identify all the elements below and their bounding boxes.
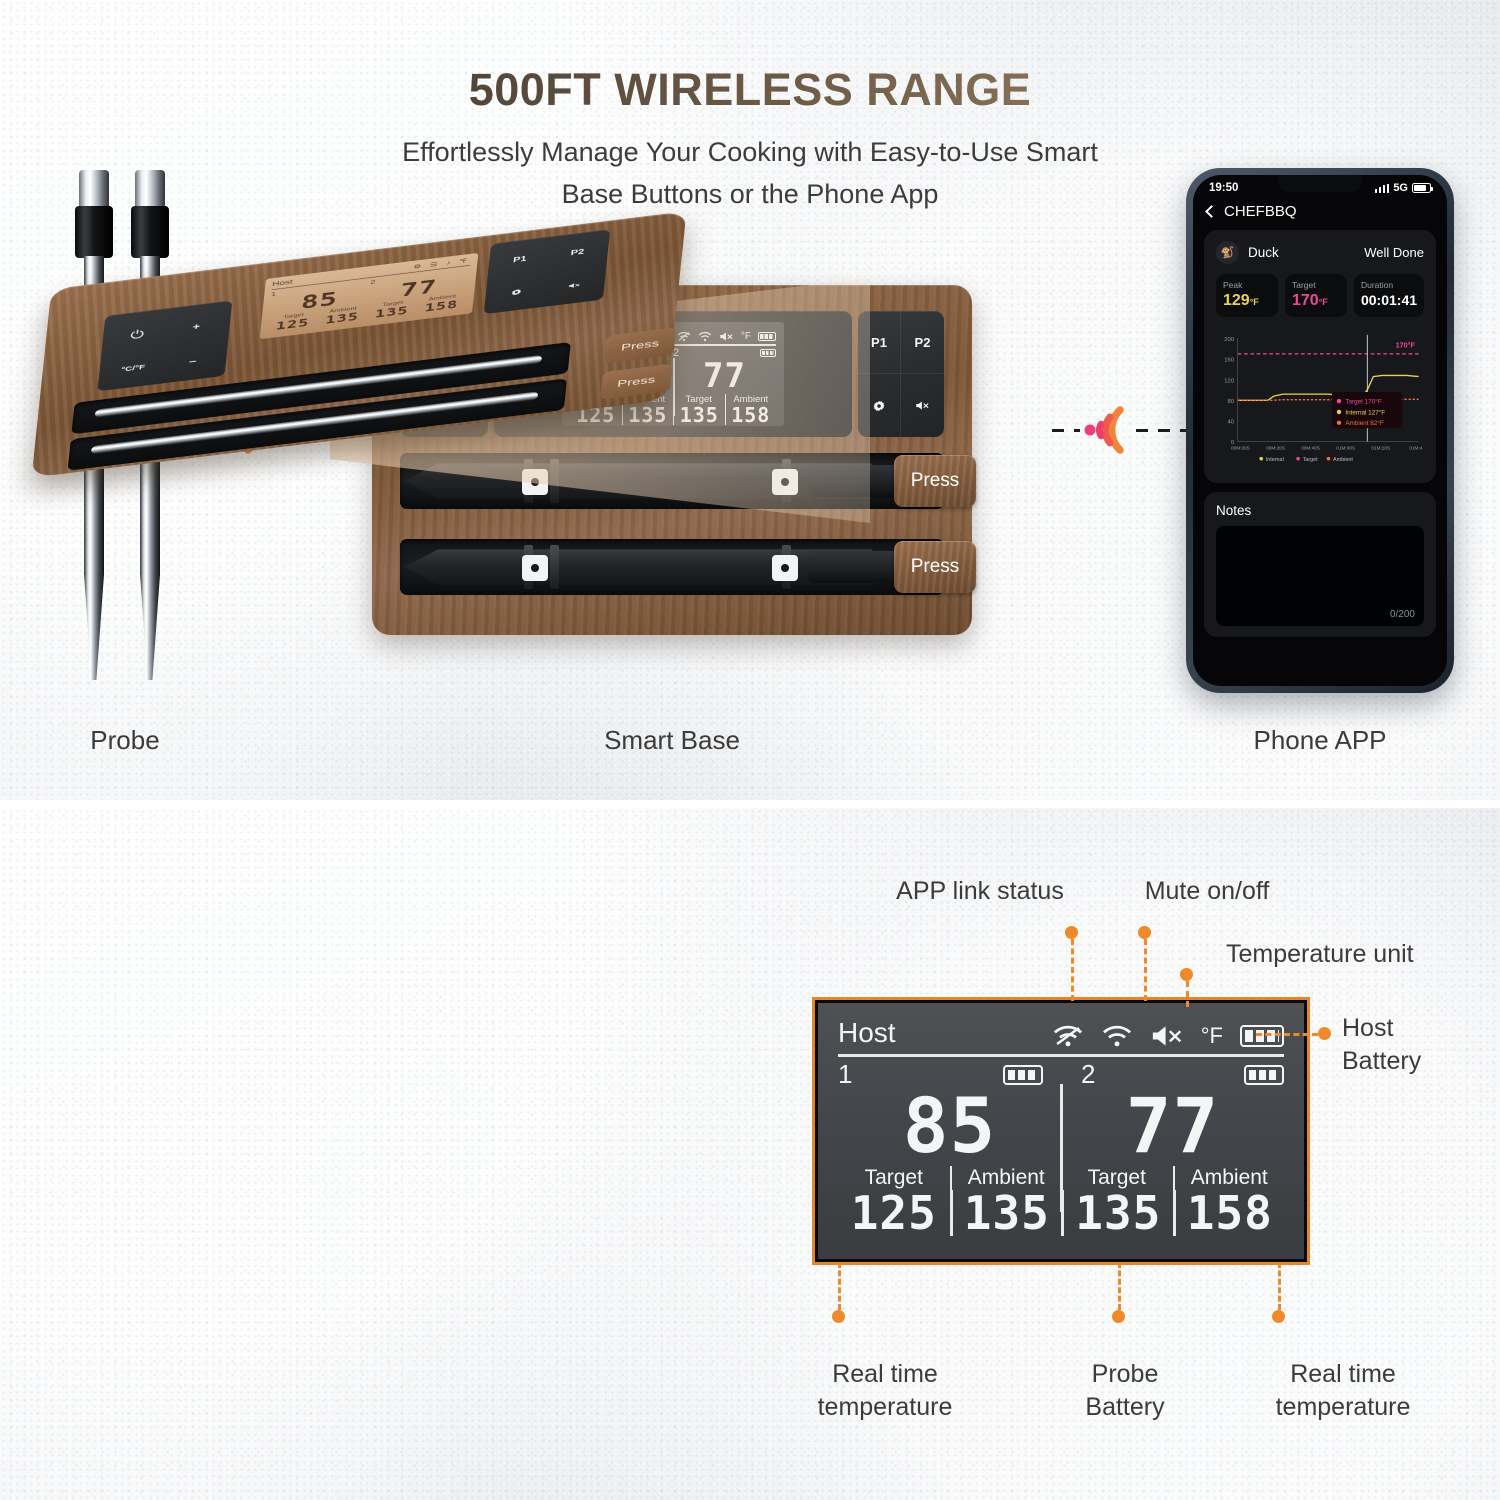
network-label: 5G [1393, 182, 1408, 194]
lcd-center-divider-large [1060, 1084, 1063, 1212]
notes-title: Notes [1216, 503, 1424, 518]
mute-button[interactable] [901, 374, 944, 437]
callout-real-time-left-line-1: Real time [770, 1358, 1000, 1391]
stat-target: Target 170°F [1285, 274, 1347, 317]
stat-value: 170°F [1292, 292, 1340, 310]
callout-real-time-right-line-1: Real time [1228, 1358, 1458, 1391]
temperature-unit-icon: °F [1201, 1023, 1223, 1049]
product-render: + °C/°F − P1 P2 Host ⚙ ☰ ♪ ℉ [30, 170, 730, 570]
cook-header: 🐒 Duck Well Done [1216, 241, 1424, 264]
lcd-display-large: Host °F [818, 1003, 1304, 1259]
x-tick-label: 00M:40S [1301, 446, 1320, 451]
callout-dot [832, 1310, 845, 1323]
right-button-pad: P1 P2 [858, 311, 944, 437]
x-tick-label: 00M:00S [1231, 446, 1250, 451]
press-button-2-3d[interactable]: Press [600, 364, 672, 400]
callout-dot [1112, 1310, 1125, 1323]
callout-host-battery-line-1: Host [1342, 1012, 1492, 1045]
leader-line [838, 1262, 841, 1310]
stat-number: 129 [1223, 292, 1250, 309]
probe-2-ambient-value-large: 158 [1173, 1190, 1285, 1236]
stat-key: Target [1292, 280, 1340, 290]
callout-host-battery: Host Battery [1342, 1012, 1492, 1077]
callout-app-link-status: APP link status [852, 875, 1108, 908]
y-tick-label: 80 [1228, 399, 1235, 405]
back-chevron-icon[interactable] [1205, 205, 1218, 218]
stat-value: 129°F [1223, 292, 1271, 310]
probe-1-target-value-large: 125 [838, 1190, 950, 1236]
callout-dot [1318, 1027, 1331, 1040]
gear-icon [510, 288, 523, 297]
lcd-zoom-frame: Host °F [812, 997, 1310, 1265]
x-tick-label: 01M:4 [1409, 446, 1422, 451]
cook-card: 🐒 Duck Well Done Peak 129°F Target 170°F [1204, 230, 1436, 483]
lcd-rule-large [838, 1054, 1284, 1057]
page-title: 500FT WIRELESS RANGE [0, 64, 1500, 116]
wifi-icon [1101, 1024, 1133, 1048]
press-button-1-3d[interactable]: Press [604, 327, 676, 363]
leader-line [1118, 1262, 1121, 1310]
food-name: Duck [1248, 245, 1279, 260]
probe-2-temperature-large: 77 [1061, 1090, 1284, 1162]
probe-1-temperature-large: 85 [838, 1090, 1061, 1162]
notes-input[interactable]: 0/200 [1216, 526, 1424, 626]
mute-icon [567, 282, 580, 289]
y-tick-label: 160 [1224, 358, 1235, 364]
probe-battery-icon [1244, 1065, 1284, 1085]
y-tick-label: 200 [1224, 337, 1235, 343]
phone-notch [1278, 175, 1362, 192]
stat-row: Peak 129°F Target 170°F Duration 00:01:4… [1216, 274, 1424, 317]
callout-real-time-left-line-2: temperature [770, 1391, 1000, 1424]
stat-unit: °F [1250, 297, 1259, 307]
notes-card: Notes 0/200 [1204, 492, 1436, 637]
signal-bars-icon [1375, 184, 1390, 193]
gear-icon [872, 399, 886, 413]
lcd-temperature-row-large: 85 77 [838, 1090, 1284, 1162]
stat-number: 170 [1292, 292, 1319, 309]
leader-line [1278, 1262, 1281, 1310]
legend-label: Ambient [1333, 457, 1353, 463]
stat-key: Duration [1361, 280, 1417, 290]
callout-dot [1138, 926, 1151, 939]
probe-2-index-large: 2 [1081, 1059, 1095, 1090]
callout-dot [1065, 926, 1078, 939]
temperature-chart: 04080120160200170°F00M:00S00M:20S00M:40S… [1216, 326, 1424, 472]
tooltip-label: Internal 127°F [1345, 408, 1385, 416]
leader-line [1144, 939, 1147, 1001]
doneness-label: Well Done [1364, 245, 1424, 260]
tooltip-swatch [1337, 399, 1341, 403]
legend-swatch [1259, 457, 1263, 461]
stat-value: 00:01:41 [1361, 292, 1417, 308]
callout-real-time-right-line-2: temperature [1228, 1391, 1458, 1424]
x-tick-label: 00M:20S [1266, 446, 1285, 451]
callout-mute: Mute on/off [1112, 875, 1302, 908]
tooltip-label: Target 170°F [1345, 397, 1381, 405]
probe-2-target-value-large: 135 [1061, 1190, 1173, 1236]
callout-real-time-left: Real time temperature [770, 1358, 1000, 1423]
lcd-header-large: Host °F [838, 1017, 1284, 1049]
caption-smart-base: Smart Base [522, 725, 822, 756]
lcd-status-icons-large: °F [1052, 1023, 1284, 1049]
tooltip-swatch [1337, 410, 1341, 414]
app-title: CHEFBBQ [1224, 203, 1297, 220]
app-link-status-icon [1052, 1024, 1084, 1048]
legend-swatch [1296, 457, 1300, 461]
leader-line [1256, 1033, 1318, 1036]
tooltip-swatch [1337, 421, 1341, 425]
caption-probe: Probe [20, 725, 230, 756]
y-tick-label: 120 [1224, 378, 1235, 384]
press-button-1[interactable]: Press [894, 455, 976, 507]
callout-dot [1180, 968, 1193, 981]
app-bar: CHEFBBQ [1193, 196, 1447, 230]
lcd-display-3d: Host ⚙ ☰ ♪ ℉ 1 2 85 77 Target Ambient Ta… [260, 253, 479, 339]
legend-swatch [1327, 457, 1331, 461]
stat-unit: °F [1319, 297, 1328, 307]
legend-label: Target [1303, 457, 1319, 463]
wireless-signal-icon [1074, 400, 1134, 460]
stat-duration: Duration 00:01:41 [1354, 274, 1424, 317]
duck-icon: 🐒 [1216, 241, 1239, 264]
x-tick-label: 01M:00S [1336, 446, 1355, 451]
probe-1-ambient-value-large: 135 [950, 1190, 1062, 1236]
mute-icon [1150, 1024, 1184, 1048]
notes-counter: 0/200 [1390, 609, 1415, 620]
phone-screen: 19:50 5G CHEFBBQ 🐒 Duck Well Done Peak [1193, 175, 1447, 686]
press-button-2[interactable]: Press [894, 541, 976, 593]
status-indicators: 5G [1375, 182, 1431, 194]
callout-dot [1272, 1310, 1285, 1323]
section-divider [0, 800, 1500, 808]
probe-2-button[interactable]: P2 [901, 311, 944, 374]
callout-probe-battery: Probe Battery [1035, 1358, 1215, 1423]
subtitle-line-1: Effortlessly Manage Your Cooking with Ea… [250, 132, 1250, 174]
leader-line [1186, 981, 1189, 1007]
target-line-label: 170°F [1396, 341, 1416, 350]
tooltip-label: Ambient 82°F [1345, 419, 1384, 427]
stat-key: Peak [1223, 280, 1271, 290]
callout-probe-battery-line-2: Battery [1035, 1391, 1215, 1424]
host-label-large: Host [838, 1017, 896, 1049]
leader-line [1071, 939, 1074, 1001]
callout-real-time-right: Real time temperature [1228, 1358, 1458, 1423]
callout-host-battery-line-2: Battery [1342, 1045, 1492, 1078]
power-icon [129, 328, 145, 339]
probe-contact [772, 555, 798, 581]
phone-device: 19:50 5G CHEFBBQ 🐒 Duck Well Done Peak [1186, 168, 1454, 693]
probe-battery-icon [1003, 1065, 1043, 1085]
stat-peak: Peak 129°F [1216, 274, 1278, 317]
battery-icon [1412, 183, 1431, 193]
caption-phone-app: Phone APP [1180, 725, 1460, 756]
y-tick-label: 40 [1228, 420, 1235, 426]
probe-1-index-large: 1 [838, 1059, 852, 1090]
chart-canvas: 04080120160200170°F00M:00S00M:20S00M:40S… [1216, 326, 1424, 472]
mute-icon [915, 400, 930, 411]
host-battery-icon [1240, 1025, 1284, 1047]
status-time: 19:50 [1209, 182, 1238, 194]
callout-probe-battery-line-1: Probe [1035, 1358, 1215, 1391]
x-tick-label: 01M:20S [1371, 446, 1390, 451]
legend-label: Internal [1266, 457, 1284, 463]
callout-temperature-unit: Temperature unit [1226, 938, 1484, 971]
